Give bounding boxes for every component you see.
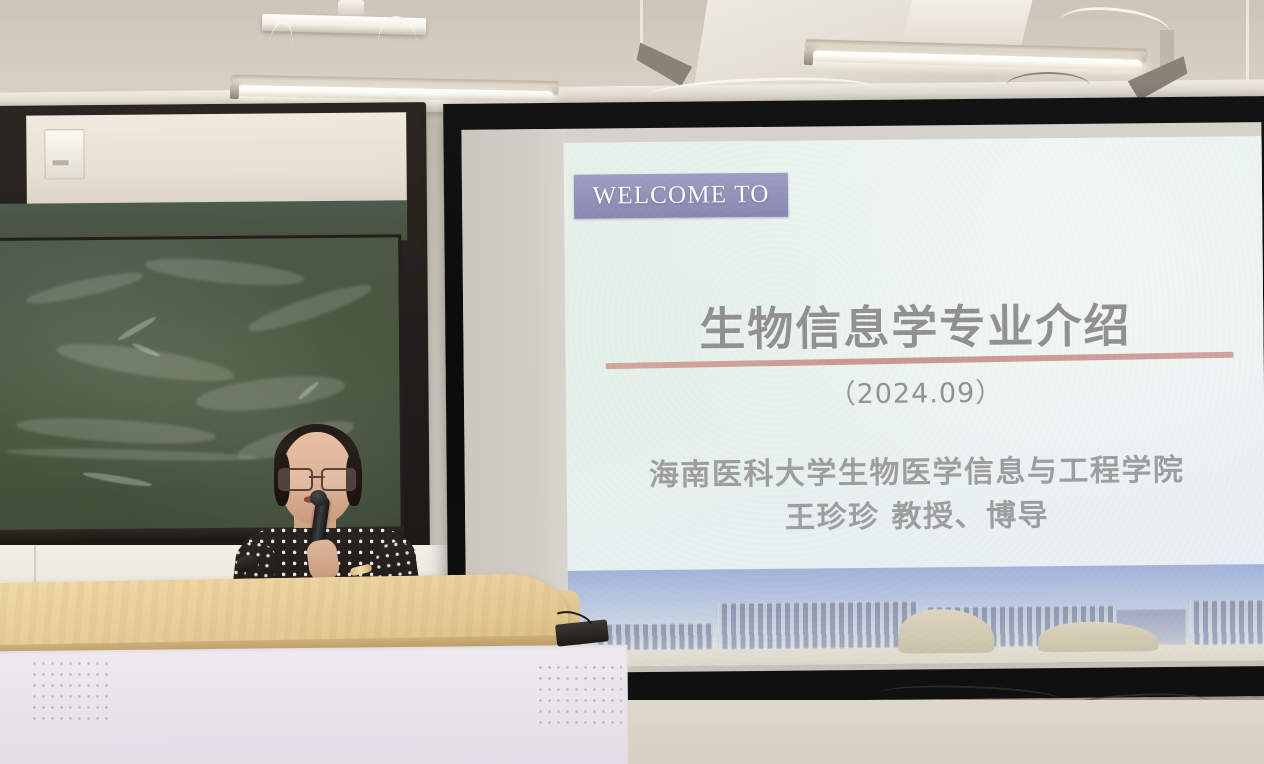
photo-building-2 (718, 601, 918, 649)
lectern-perforation-right (536, 662, 622, 732)
ceiling-seam-right (1246, 0, 1249, 92)
lectern-perforation-left (30, 658, 110, 724)
photo-building-5 (1190, 600, 1264, 645)
glasses-lens-right (321, 468, 356, 491)
presenter-glasses (278, 468, 356, 487)
presentation-slide: WELCOME TO 生物信息学专业介绍 （2024.09） 海南医科大学生物医… (564, 136, 1264, 667)
gooseneck-capsule (234, 553, 259, 573)
tube-endcap-left (230, 84, 239, 99)
welcome-banner: WELCOME TO (574, 173, 788, 219)
screen-surface: WELCOME TO 生物信息学专业介绍 （2024.09） 海南医科大学生物医… (461, 122, 1264, 674)
floor-strip (600, 700, 1264, 764)
slide-subtitle-line-1: 海南医科大学生物医学信息与工程学院 (649, 453, 1185, 493)
slide-title: 生物信息学专业介绍 (565, 288, 1264, 361)
slide-date: （2024.09） (566, 368, 1264, 414)
lecture-hall-photo: WELCOME TO 生物信息学专业介绍 （2024.09） 海南医科大学生物医… (0, 0, 1264, 764)
wall-switch[interactable] (44, 129, 84, 179)
slide-subtitle: 海南医科大学生物医学信息与工程学院 王珍珍 教授、博导 (567, 448, 1264, 543)
tube-endcap-right (804, 50, 813, 65)
welcome-banner-label: WELCOME TO (592, 181, 769, 211)
ceiling-cable-loop (1006, 72, 1090, 100)
glasses-lens-left (278, 468, 313, 491)
slide-subtitle-line-2: 王珍珍 教授、博导 (567, 492, 1264, 543)
slide-campus-photo (568, 564, 1264, 667)
